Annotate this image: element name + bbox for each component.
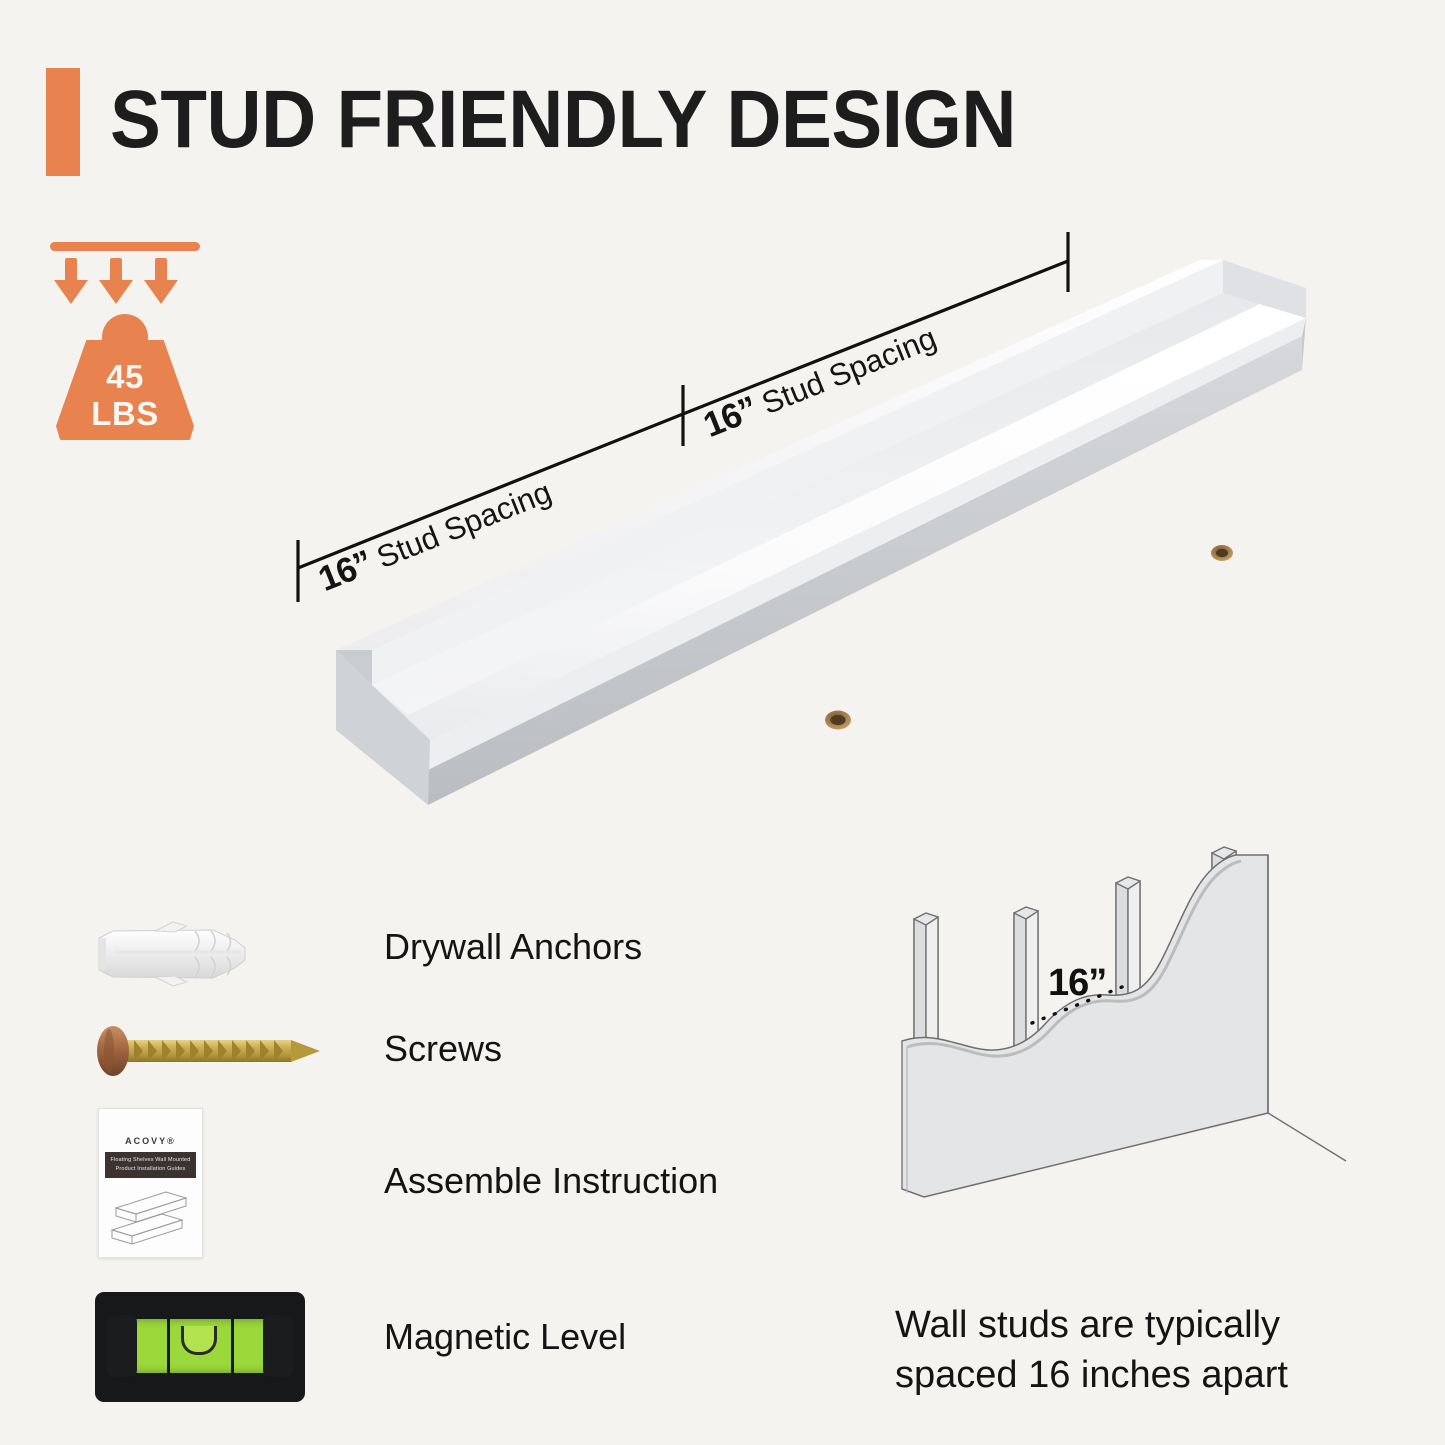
booklet-brand: ACOVY® xyxy=(98,1136,203,1146)
accessory-label-screws: Screws xyxy=(384,1028,502,1070)
shelf-illustration: 16” Stud Spacing 16” Stud Spacing xyxy=(150,230,1370,830)
caption-line-2: spaced 16 inches apart xyxy=(895,1350,1375,1400)
shelf-screw-hole xyxy=(1211,545,1233,561)
booklet-title-band: Floating Shelves Wall Mounted Product In… xyxy=(105,1152,196,1178)
wall-stud-svg xyxy=(880,845,1370,1275)
accessory-label-magnetic-level: Magnetic Level xyxy=(384,1316,626,1358)
instruction-booklet-icon: ACOVY® Floating Shelves Wall Mounted Pro… xyxy=(98,1108,203,1258)
stud-spacing-measure-label: 16” xyxy=(1048,962,1106,1005)
shelf-svg xyxy=(150,230,1370,830)
wall-stud xyxy=(914,913,938,1051)
wall-stud-diagram xyxy=(880,845,1370,1275)
booklet-shelf-drawing xyxy=(108,1186,194,1248)
level-gauge-line xyxy=(167,1319,170,1373)
accessory-label-drywall-anchors: Drywall Anchors xyxy=(384,926,642,968)
screw-icon xyxy=(92,1020,327,1082)
booklet-line-2: Product Installation Guides xyxy=(105,1165,196,1174)
title-accent-bar xyxy=(46,68,80,176)
shelf-screw-hole xyxy=(825,711,851,730)
drywall-anchor-icon xyxy=(95,918,250,990)
level-bubble xyxy=(181,1326,217,1355)
magnetic-level-icon xyxy=(95,1292,305,1402)
infographic-canvas: STUD FRIENDLY DESIGN 45 LBS xyxy=(0,0,1445,1445)
level-gauge-line xyxy=(231,1319,234,1373)
accessory-label-assemble-instruction: Assemble Instruction xyxy=(384,1160,718,1202)
level-end-cap xyxy=(263,1315,293,1377)
page-title: STUD FRIENDLY DESIGN xyxy=(110,62,1016,177)
level-end-cap xyxy=(107,1315,137,1377)
wall-stud-caption: Wall studs are typically spaced 16 inche… xyxy=(895,1300,1375,1400)
caption-line-1: Wall studs are typically xyxy=(895,1300,1375,1350)
booklet-line-1: Floating Shelves Wall Mounted xyxy=(105,1156,196,1165)
